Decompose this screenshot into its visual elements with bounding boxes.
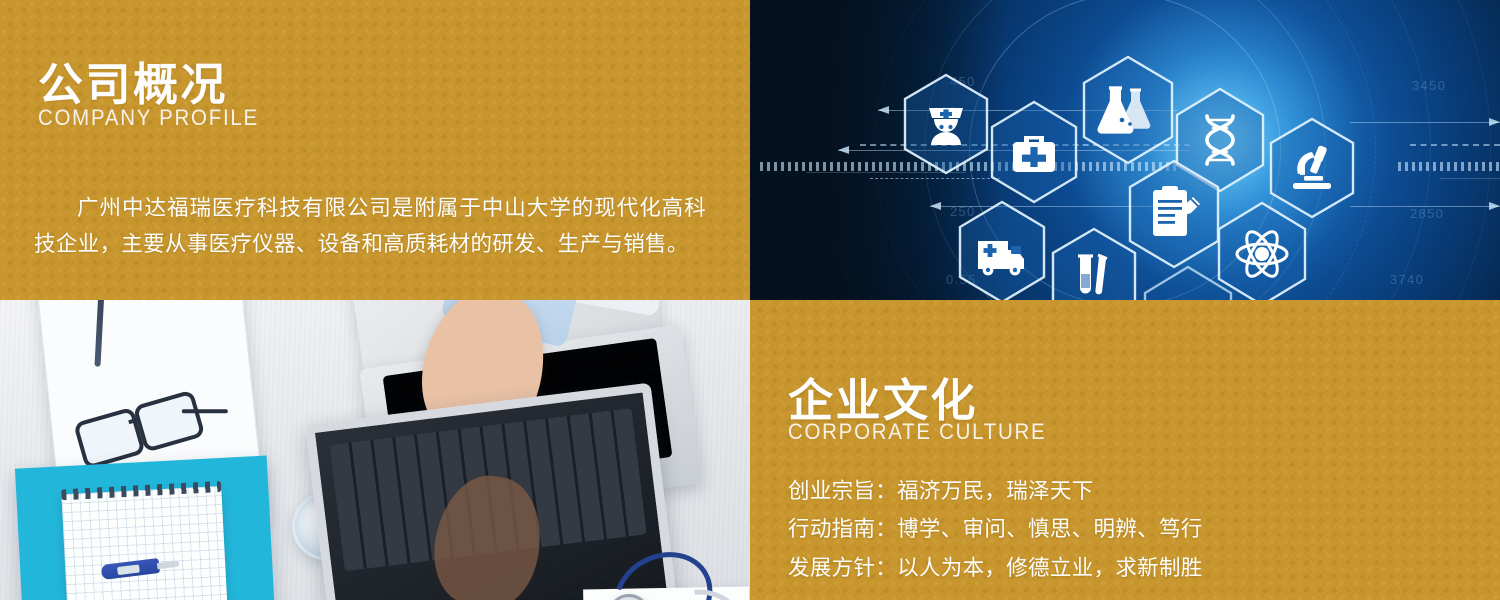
corporate-culture-list: 创业宗旨：福济万民，瑞泽天下 行动指南：博学、审问、慎思、明辨、笃行 发展方针：… xyxy=(788,472,1203,587)
list-item: 发展方针：以人为本，修德立业，求新制胜 xyxy=(788,549,1203,587)
medical-technology-image: 450 400 250 0.55 3450 2850 3740 xyxy=(750,0,1500,300)
cyan-folder xyxy=(15,456,277,600)
corporate-culture-title-cn: 企业文化 xyxy=(788,378,978,423)
pen xyxy=(94,300,106,367)
slide-canvas: 公司概况 COMPANY PROFILE 广州中达福瑞医疗科技有限公司是附属于中… xyxy=(0,0,1500,600)
test-tubes-icon[interactable] xyxy=(1049,226,1139,300)
flasks-icon[interactable] xyxy=(1080,54,1176,166)
empty-hex-icon[interactable] xyxy=(1141,264,1235,300)
ambulance-icon[interactable] xyxy=(956,199,1048,300)
company-profile-panel: 公司概况 COMPANY PROFILE 广州中达福瑞医疗科技有限公司是附属于中… xyxy=(0,0,750,300)
corporate-culture-panel: 企业文化 CORPORATE CULTURE 创业宗旨：福济万民，瑞泽天下 行动… xyxy=(750,300,1500,600)
eyeglasses-lens xyxy=(133,390,206,453)
nurse-icon[interactable] xyxy=(901,72,991,176)
medical-desk-photo xyxy=(0,300,750,600)
list-item: 行动指南：博学、审问、慎思、明辨、笃行 xyxy=(788,510,1203,548)
company-profile-title-cn: 公司概况 xyxy=(38,62,228,107)
clipboard-icon[interactable] xyxy=(1126,158,1222,270)
thermometer-tip xyxy=(156,560,179,569)
corporate-culture-title-en: CORPORATE CULTURE xyxy=(788,419,1046,445)
eyeglasses xyxy=(73,389,209,468)
digital-thermometer xyxy=(100,556,179,580)
notepad-spiral-binding xyxy=(61,481,221,500)
medical-bag-icon[interactable] xyxy=(988,99,1080,205)
spiral-notepad xyxy=(62,486,230,600)
list-item: 创业宗旨：福济万民，瑞泽天下 xyxy=(788,472,1203,510)
eyeglasses-temple xyxy=(182,409,228,413)
company-profile-body-text: 广州中达福瑞医疗科技有限公司是附属于中山大学的现代化高科技企业，主要从事医疗仪器… xyxy=(34,190,706,264)
company-profile-title-en: COMPANY PROFILE xyxy=(38,105,259,131)
stethoscope xyxy=(582,584,750,600)
hexagon-icon-cluster xyxy=(750,0,1500,300)
